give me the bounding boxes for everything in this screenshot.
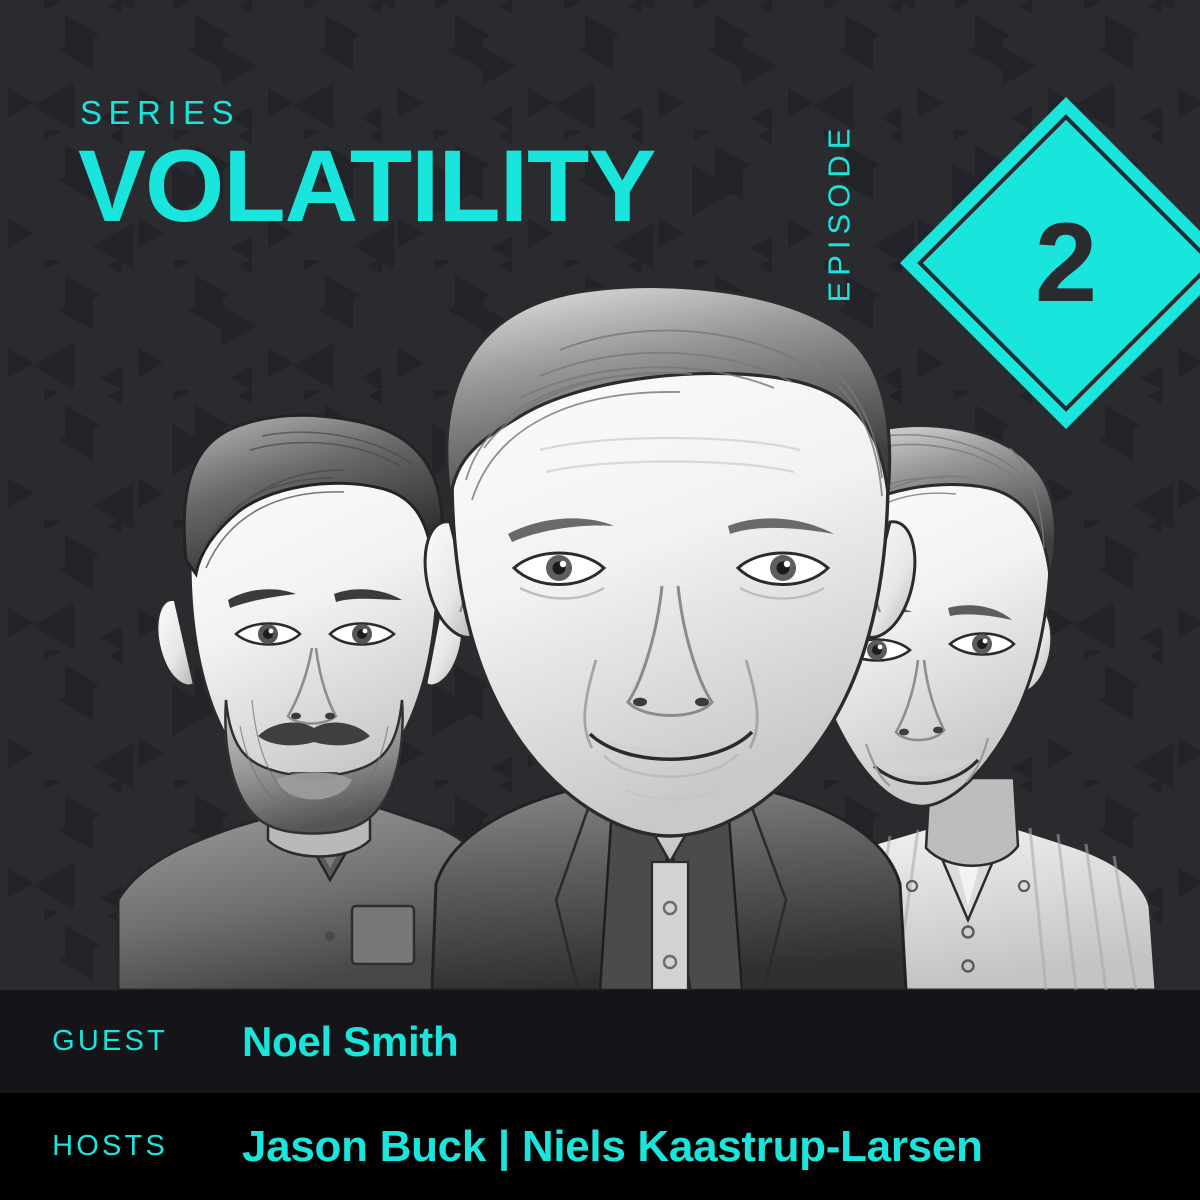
guest-name: Noel Smith xyxy=(242,1021,458,1063)
episode-badge: EPISODE 2 xyxy=(780,60,1180,360)
series-header: SERIES VOLATILITY xyxy=(78,96,655,237)
episode-label: EPISODE xyxy=(824,118,855,308)
portrait-center xyxy=(425,286,915,990)
diamond-badge-icon xyxy=(882,79,1200,447)
hosts-names: Jason Buck | Niels Kaastrup-Larsen xyxy=(242,1125,983,1169)
series-label: SERIES xyxy=(80,96,655,129)
hosts-label: HOSTS xyxy=(0,1132,168,1161)
podcast-cover-art: SERIES VOLATILITY EPISODE 2 GUEST Noel S… xyxy=(0,0,1200,1200)
page-title: VOLATILITY xyxy=(78,135,655,237)
guest-label: GUEST xyxy=(0,1027,168,1056)
hosts-credit-bar: HOSTS Jason Buck | Niels Kaastrup-Larsen xyxy=(0,1093,1200,1200)
guest-credit-bar: GUEST Noel Smith xyxy=(0,990,1200,1093)
